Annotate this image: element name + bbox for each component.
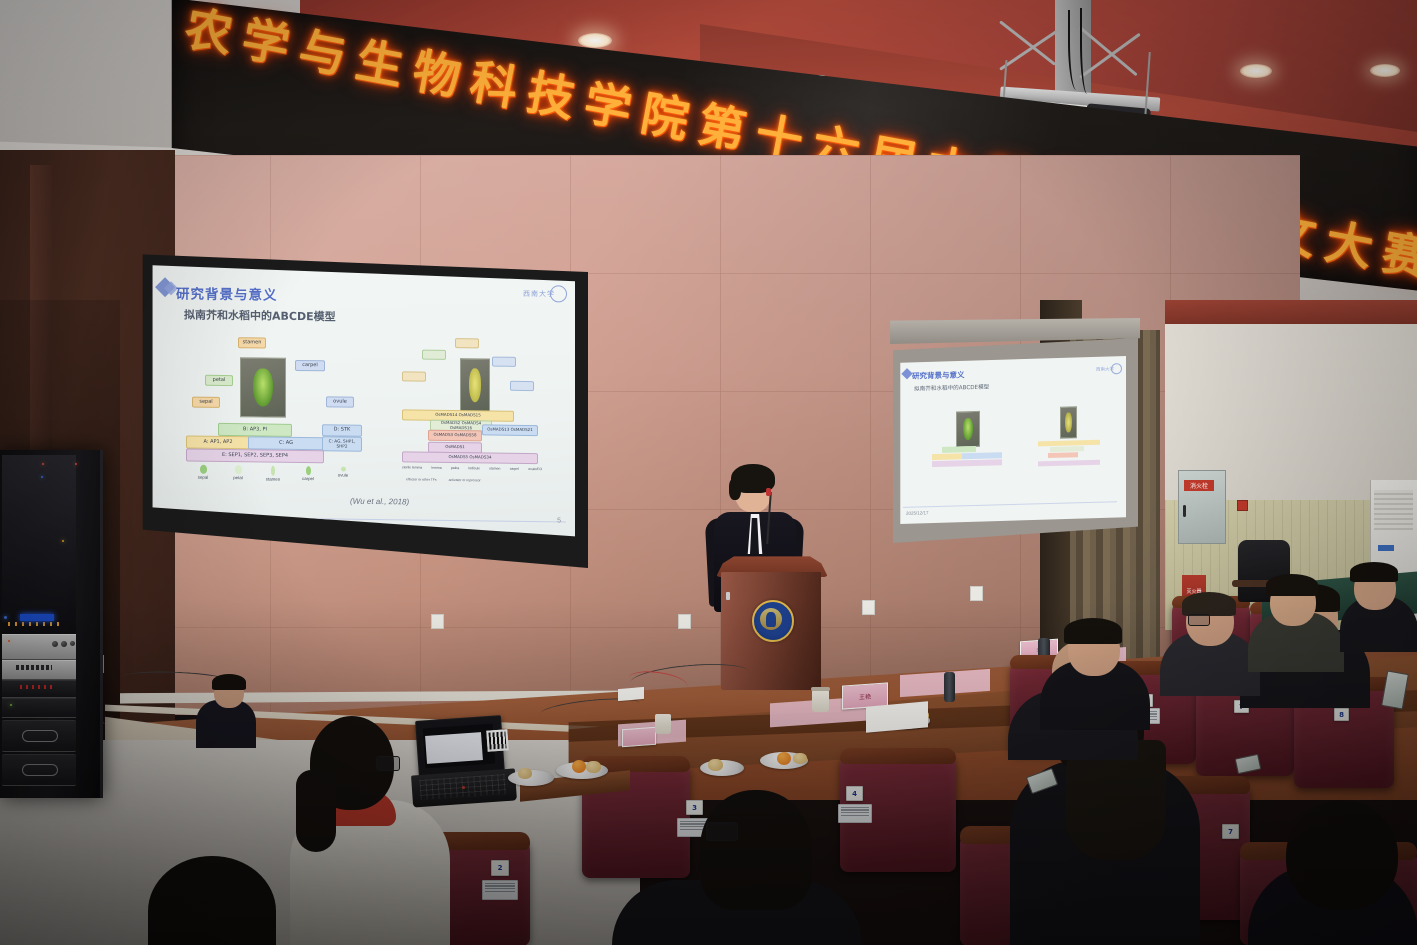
rice-legend-1: activator or repressor <box>449 478 481 482</box>
seat-number-8: 8 <box>1334 708 1349 721</box>
rice-organ-5: carpel <box>510 467 519 471</box>
rack-meter-leds <box>8 622 60 626</box>
rice-node-2 <box>422 350 446 360</box>
right-wall-red-band <box>1165 300 1417 324</box>
paper-cup-1 <box>812 690 829 712</box>
rack-amp-vents-1 <box>22 730 58 742</box>
class-block-d: D: STK <box>322 424 362 437</box>
node-stamen: stamen <box>238 337 266 348</box>
node-petal: petal <box>205 375 233 386</box>
judge-4-hair <box>1350 562 1398 582</box>
bun-6 <box>518 768 532 779</box>
slide2-arabidopsis-photo <box>956 411 980 448</box>
slide-surface: 研究背景与意义 拟南芥和水稻中的ABCDE模型 西南大学 stamen carp… <box>150 258 575 548</box>
slide2-footer-rule <box>903 501 1117 508</box>
organ-ovule: ovule <box>330 466 356 477</box>
banner-char-9: 院 <box>637 89 692 147</box>
banner-char-3: 与 <box>295 25 350 83</box>
slide2-date: 2025/12/17 <box>906 510 929 516</box>
rice-class-c: OsMADS3 OsMADS58 <box>428 430 482 442</box>
rack-led-6 <box>8 640 10 642</box>
rice-organ-6: ovule/FO <box>528 467 542 471</box>
fire-hose-sign: 消火栓 <box>1184 480 1214 491</box>
air-conditioner-grill <box>1374 490 1413 530</box>
ceiling-downlight-3 <box>1370 64 1400 77</box>
rice-node-4 <box>402 371 426 381</box>
judge-2-hair <box>1182 592 1236 616</box>
projection-screen-main[interactable]: 研究背景与意义 拟南芥和水稻中的ABCDE模型 西南大学 stamen carp… <box>150 258 575 548</box>
rack-knob-2[interactable] <box>61 641 67 647</box>
rack-led-7 <box>10 704 12 706</box>
paper-cup-2 <box>655 714 671 734</box>
slide-citation: (Wu et al., 2018) <box>350 497 409 507</box>
score-sheet-2[interactable] <box>618 687 644 701</box>
rack-unit-mixer[interactable] <box>2 660 76 680</box>
seat-row2-2-trim <box>840 748 956 764</box>
projector-cable-2 <box>1080 8 1092 94</box>
seat-number-2: 2 <box>491 860 509 876</box>
banner-char-2: 学 <box>238 15 293 73</box>
node-carpel: carpel <box>295 360 325 371</box>
slide2-diamond-icon <box>901 368 912 379</box>
rice-node-1 <box>455 338 479 348</box>
slide-title: 研究背景与意义 <box>176 282 278 303</box>
rack-unit-matrix[interactable] <box>2 680 76 698</box>
qr-code-icon <box>486 729 508 751</box>
rice-organ-row: sterile lemma lemma palea lodicule stame… <box>402 465 542 471</box>
audience-3-glasses-icon <box>706 822 738 841</box>
banner-char-22: 赛 <box>1378 228 1417 286</box>
rack-knob-1[interactable] <box>52 641 58 647</box>
organ-carpel-label: carpel <box>302 476 314 481</box>
rice-node-3 <box>492 357 516 367</box>
bun-5 <box>586 761 601 773</box>
ceiling-downlight-2 <box>1240 64 1272 78</box>
auditorium-scene: 农 学 与 生 物 科 技 学 院 第 十 六 届 本 科 生 学 术 论 文 … <box>0 0 1417 945</box>
slide-surface-2: 研究背景与意义 拟南芥和水稻中的ABCDE模型 西南大学 2025/12/17 <box>898 356 1126 524</box>
class-block-b: B: AP3, PI <box>218 423 292 437</box>
organ-petal-label: petal <box>233 475 243 480</box>
organ-stamen: stamen <box>260 465 286 481</box>
rice-flower-photo <box>460 358 490 412</box>
banner-char-8: 学 <box>580 79 635 137</box>
seat-number-7b: 7 <box>1222 824 1239 839</box>
rice-organ-0: sterile lemma <box>402 465 422 469</box>
podium-control-button[interactable] <box>726 592 730 600</box>
presenter-laptop-ui[interactable] <box>425 732 483 764</box>
fire-alarm-button[interactable] <box>1237 500 1248 511</box>
audience-7-head <box>1286 800 1398 910</box>
banner-char-4: 生 <box>352 36 407 94</box>
slide2-block-a <box>932 453 962 460</box>
class-block-e: E: SEP1, SEP2, SEP3, SEP4 <box>186 448 324 463</box>
seat-label-2 <box>482 880 518 900</box>
rack-amp-vents-2 <box>22 764 58 776</box>
wall-outlet-3[interactable] <box>678 614 691 629</box>
organ-sepal: sepal <box>190 465 216 480</box>
judge-2-glasses-icon <box>1188 614 1210 626</box>
banner-char-6: 科 <box>466 57 521 115</box>
rack-mixer-buttons[interactable] <box>16 665 52 670</box>
banner-char-1: 农 <box>181 4 236 62</box>
organ-ovule-label: ovule <box>338 472 349 477</box>
banner-char-10: 第 <box>694 100 749 158</box>
paper-cup-lid-1 <box>811 687 830 691</box>
slide2-university-logo-icon <box>1111 363 1122 374</box>
rack-knob-3[interactable] <box>70 641 75 646</box>
class-block-c2: C: AG, SHP1, SHP2 <box>322 436 362 452</box>
fire-cabinet-handle-icon[interactable] <box>1183 505 1186 517</box>
judge-1-hair <box>1064 618 1122 644</box>
slide2-rblock-b <box>1050 446 1084 452</box>
slide2-block-c <box>962 452 1002 459</box>
slide2-title: 研究背景与意义 <box>912 369 965 381</box>
organ-petal: petal <box>225 465 251 480</box>
seat-label-4 <box>838 804 872 823</box>
score-sheet-1[interactable] <box>866 701 928 732</box>
organ-stamen-label: stamen <box>266 477 280 482</box>
slide2-subtitle: 拟南芥和水稻中的ABCDE模型 <box>914 383 989 393</box>
judge-name-card-4 <box>622 727 656 747</box>
presenter-hair-side <box>729 478 741 500</box>
rack-unit-sequencer[interactable] <box>2 698 76 718</box>
rice-class-d: OsMADS13 OsMADS21 <box>482 424 538 436</box>
air-conditioner-badge <box>1378 545 1394 551</box>
slide2-rice-photo <box>1060 406 1077 438</box>
slide-page-number: 5 <box>557 517 561 524</box>
orange-6 <box>572 760 586 773</box>
rice-class-e2: OsMADS5 OsMADS34 <box>402 451 538 464</box>
seat-number-4: 4 <box>846 786 863 801</box>
bun-1 <box>793 753 807 764</box>
rack-led-1 <box>42 463 44 465</box>
audience-3-head <box>700 790 812 910</box>
rack-unit-amplifier[interactable] <box>2 634 76 660</box>
audience-1-ponytail <box>296 770 336 852</box>
rice-legend-0: effector or other TFs <box>406 477 437 481</box>
ceiling-downlight-1 <box>578 33 612 48</box>
rice-organ-4: stamen <box>489 467 500 471</box>
rice-organ-1: lemma <box>431 466 441 470</box>
class-block-c: C: AG <box>248 436 324 450</box>
microphone-head-icon <box>766 488 771 496</box>
thermos-bottle-2 <box>944 672 955 702</box>
node-sepal: sepal <box>192 397 220 408</box>
organ-sepal-label: sepal <box>198 475 209 480</box>
slide2-block-e <box>932 459 1002 467</box>
projection-screen-secondary[interactable]: 研究背景与意义 拟南芥和水稻中的ABCDE模型 西南大学 2025/12/17 <box>898 356 1126 524</box>
slide2-block-b <box>942 446 976 453</box>
rack-led-5 <box>4 616 7 619</box>
audience-8-hair <box>212 674 246 690</box>
rack-led-2 <box>75 463 77 465</box>
banner-char-21: 大 <box>1321 217 1376 275</box>
university-crest-center <box>766 612 776 627</box>
rack-led-3 <box>41 476 43 478</box>
rice-organ-3: lodicule <box>469 466 481 470</box>
arabidopsis-flower-photo <box>240 357 286 418</box>
wall-outlet-2[interactable] <box>431 614 444 629</box>
rice-legend: effector or other TFs activator or repre… <box>406 477 481 482</box>
audience-1-glasses-icon <box>376 756 400 771</box>
presenter-laptop-trackpoint[interactable] <box>462 786 465 789</box>
class-block-a: A: AP1, AP2 <box>186 435 250 449</box>
wall-outlet-5[interactable] <box>970 586 983 601</box>
banner-char-7: 技 <box>523 68 578 126</box>
banner-char-5: 物 <box>409 47 464 105</box>
bun-2 <box>708 759 723 771</box>
slide2-rblock-c <box>1048 452 1078 458</box>
node-ovule: ovule <box>326 396 354 407</box>
wall-outlet-4[interactable] <box>862 600 875 615</box>
rice-node-5 <box>510 381 534 391</box>
slide2-rblock-e <box>1038 460 1100 467</box>
organ-carpel: carpel <box>295 466 321 481</box>
rice-organ-2: palea <box>451 466 459 470</box>
rack-led-4 <box>62 540 64 542</box>
slide-subtitle: 拟南芥和水稻中的ABCDE模型 <box>184 306 336 324</box>
seat-number-3: 3 <box>686 800 703 815</box>
slide2-rblock-a <box>1038 440 1100 447</box>
university-logo-icon <box>550 285 567 302</box>
orange-1 <box>777 752 791 765</box>
judge-3-hair <box>1266 574 1318 596</box>
rack-matrix-leds <box>20 685 54 689</box>
rack-display-screen <box>20 614 54 621</box>
